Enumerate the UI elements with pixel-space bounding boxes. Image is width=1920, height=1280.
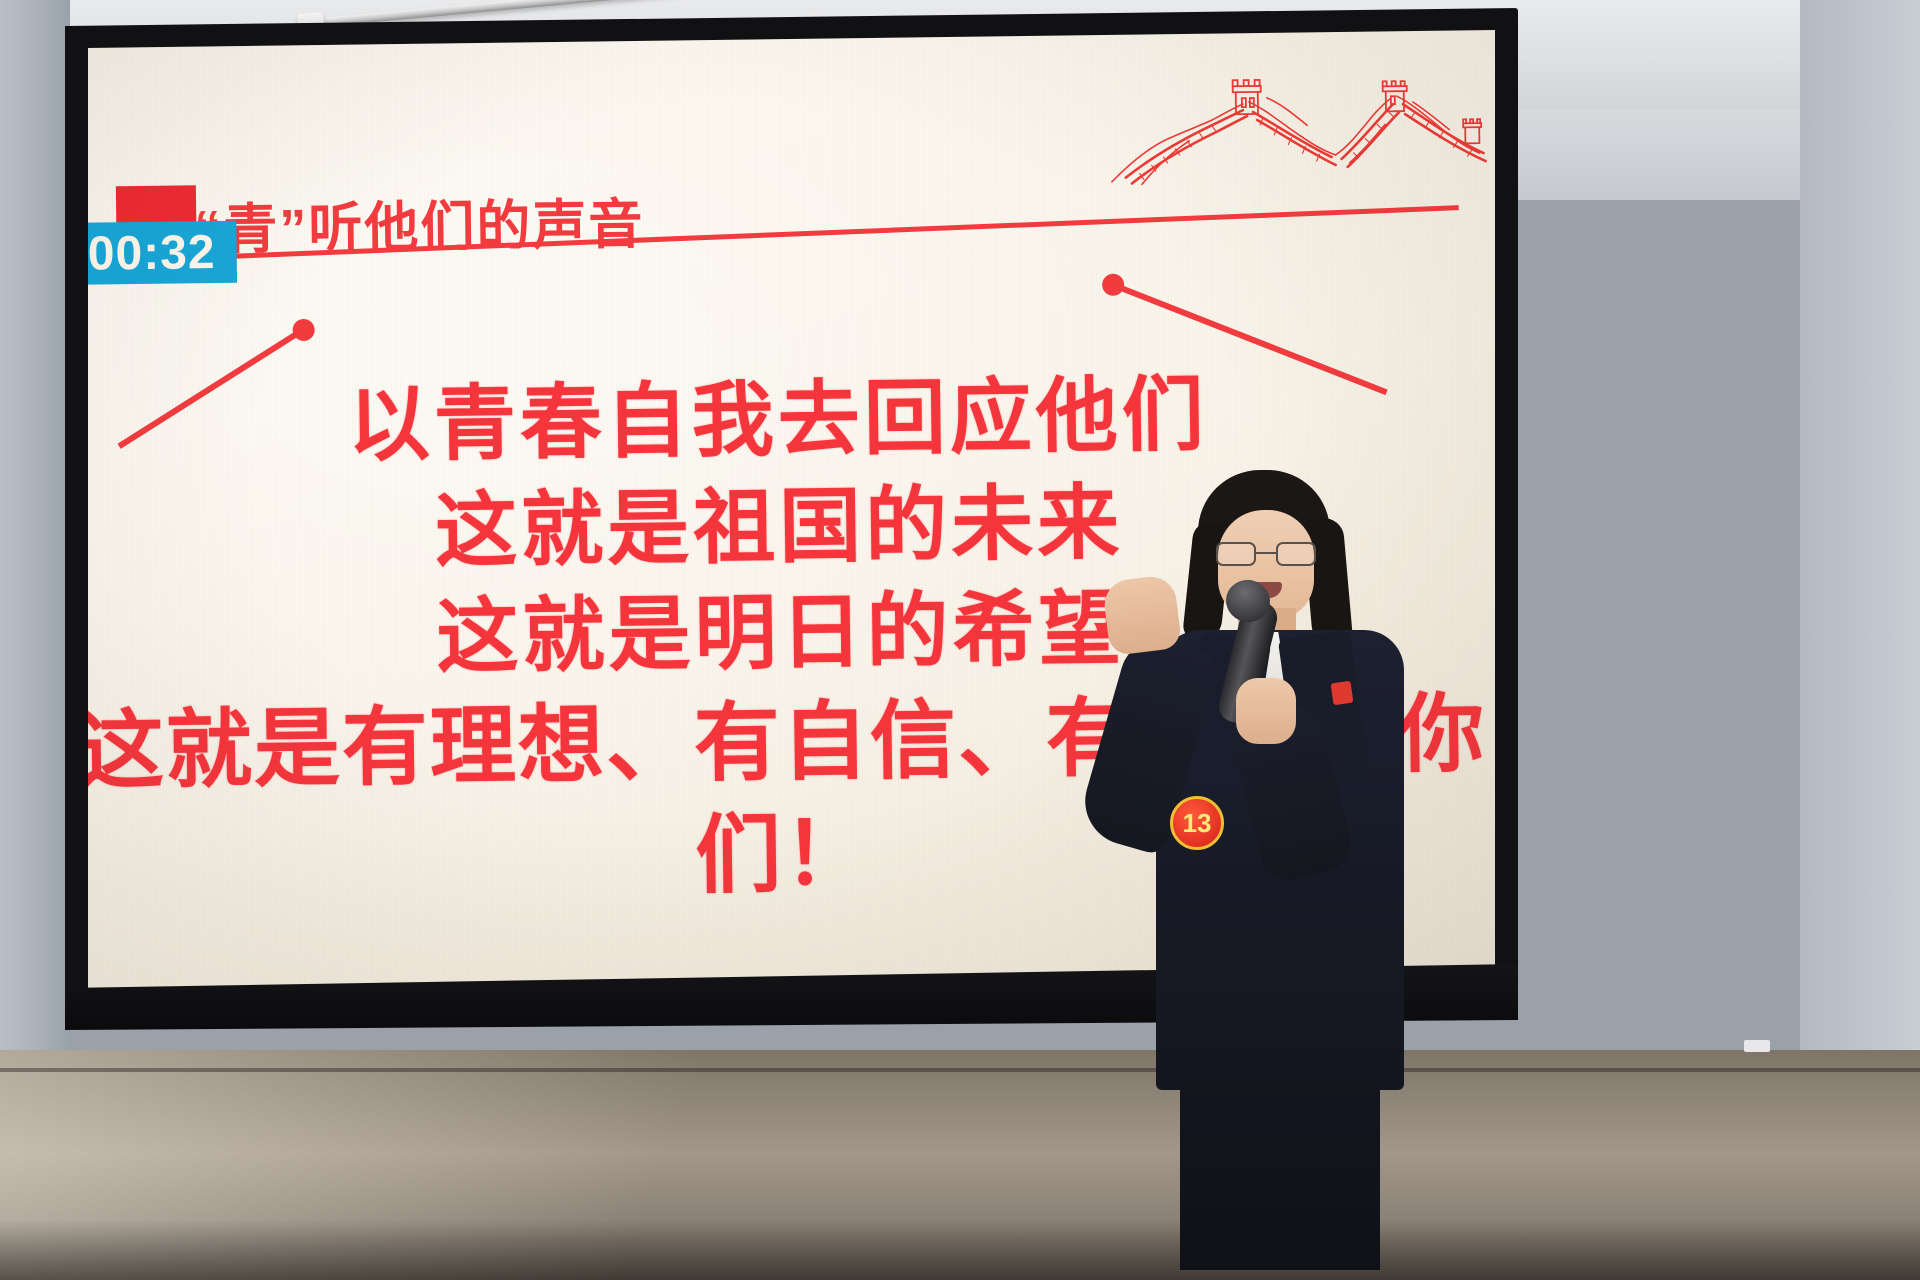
glasses-bridge [1256,552,1276,554]
floor-wall-joint [0,1068,1920,1072]
contestant-number-badge: 13 [1170,796,1224,850]
trousers [1180,1070,1380,1270]
wall-right [1800,0,1920,1130]
screen-indicator [1744,1040,1770,1052]
wall-left [0,0,70,1180]
flag-lapel-pin [1331,681,1354,706]
floor-shadow [0,1220,1920,1280]
speaker-person: 13 [1060,470,1420,1090]
raised-fist [1102,574,1182,656]
photo-scene: “青”听他们的声音 00:32 以青春自我去回应他们 这就是祖国的未来 这就是明… [0,0,1920,1280]
lens-left [1216,542,1256,566]
lens-right [1276,542,1316,566]
mic-hand [1236,678,1296,744]
eyeglasses-icon [1216,542,1316,566]
